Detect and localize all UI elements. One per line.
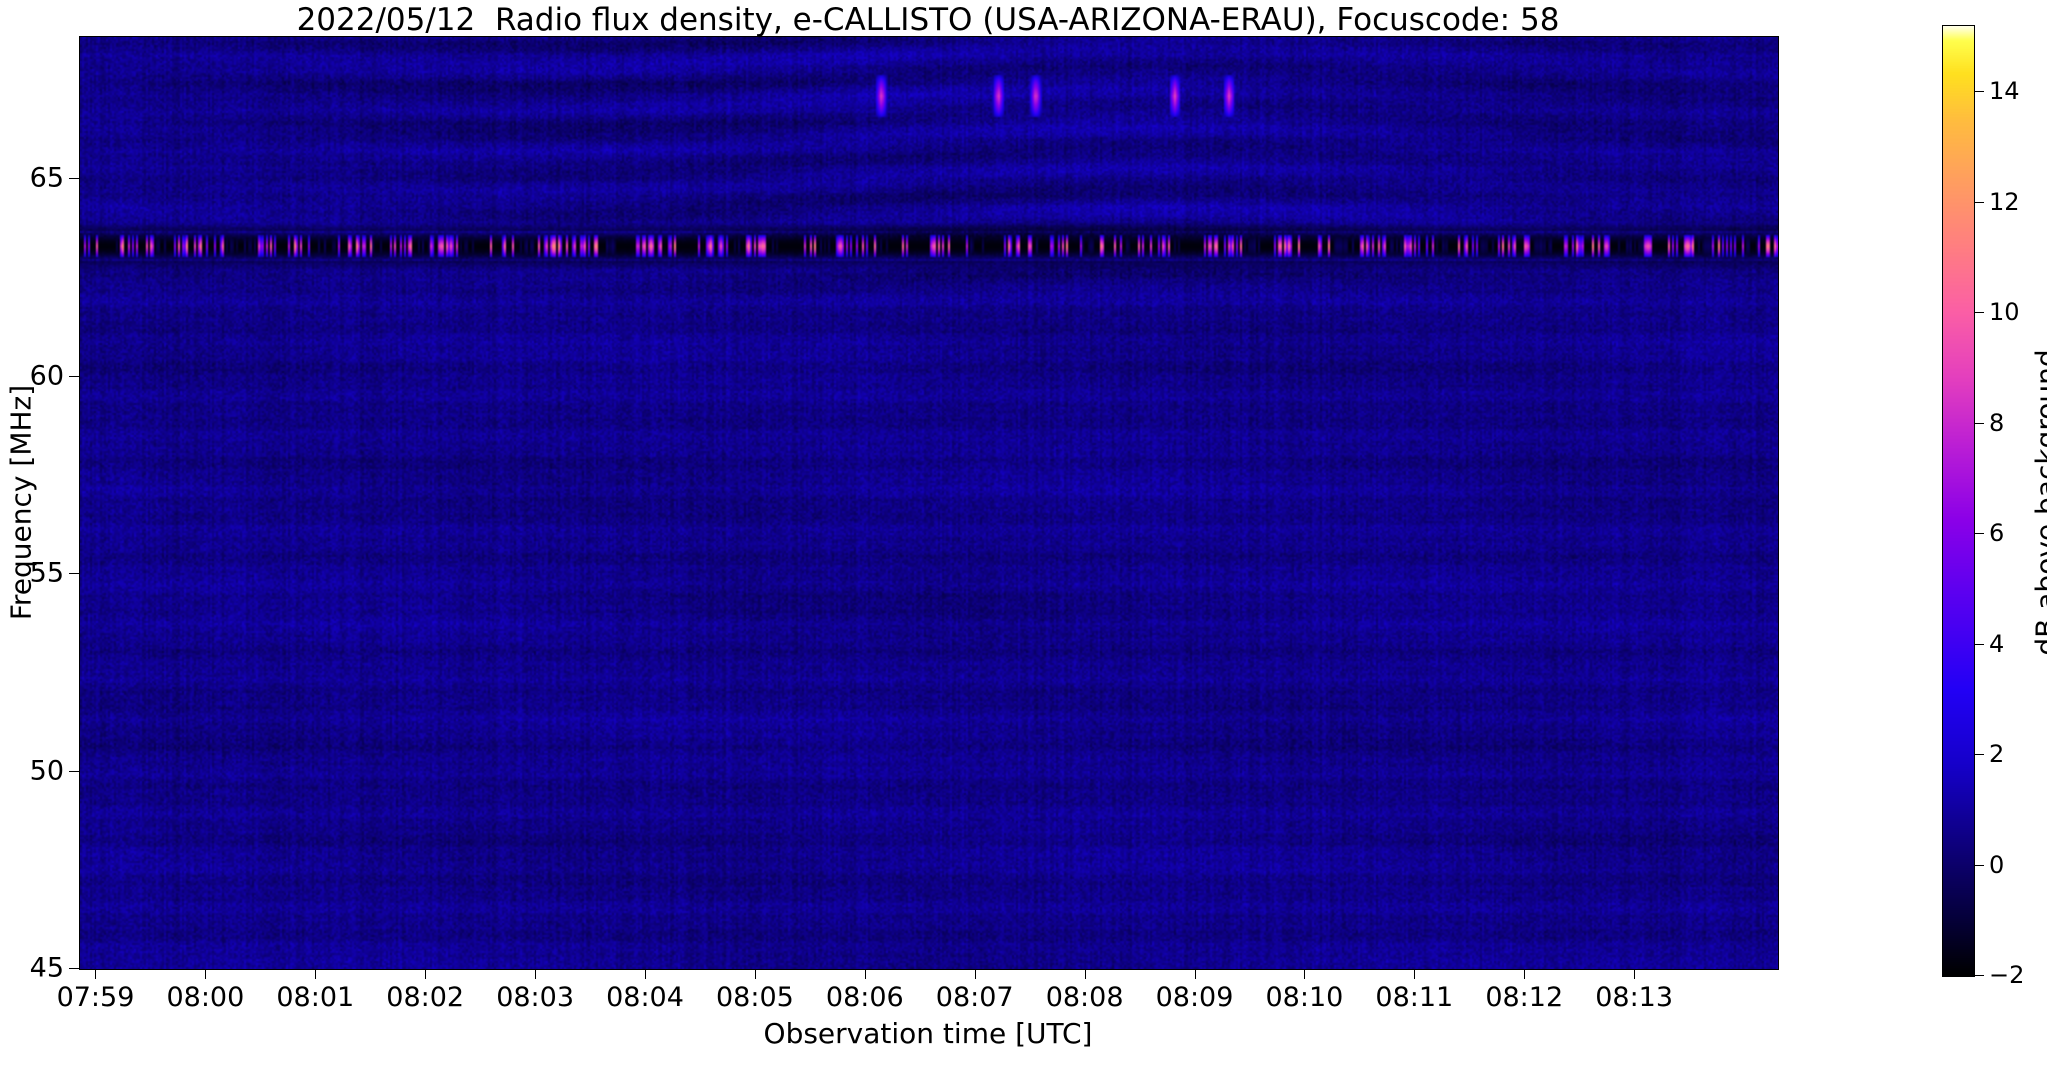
x-tick-mark [865, 969, 866, 979]
x-tick-mark [1195, 969, 1196, 979]
colorbar-tick-label: −2 [1989, 961, 2024, 989]
x-tick-label: 08:03 [496, 982, 574, 1013]
x-tick-mark [645, 969, 646, 979]
x-tick-label: 08:05 [716, 982, 794, 1013]
colorbar-tick-mark [1975, 91, 1984, 92]
colorbar-tick-label: 10 [1989, 298, 2020, 326]
y-tick-label: 45 [0, 953, 64, 984]
colorbar-tick-mark [1975, 865, 1984, 866]
y-tick-mark [69, 376, 79, 377]
x-tick-label: 07:59 [57, 982, 135, 1013]
colorbar [1942, 25, 1975, 977]
colorbar-tick-mark [1975, 754, 1984, 755]
spectrogram-figure: 2022/05/12 Radio flux density, e-CALLIST… [0, 0, 2047, 1067]
x-tick-label: 08:00 [166, 982, 244, 1013]
x-axis-label: Observation time [UTC] [79, 1017, 1777, 1050]
x-tick-label: 08:13 [1595, 982, 1673, 1013]
y-tick-label: 50 [0, 755, 64, 786]
y-tick-label: 55 [0, 558, 64, 589]
y-tick-mark [69, 573, 79, 574]
x-tick-mark [535, 969, 536, 979]
x-tick-label: 08:08 [1046, 982, 1124, 1013]
x-tick-mark [1524, 969, 1525, 979]
colorbar-tick-label: 0 [1989, 851, 2004, 879]
x-tick-mark [1414, 969, 1415, 979]
colorbar-gradient [1943, 26, 1974, 976]
spectrogram-plot-area [79, 36, 1779, 970]
x-tick-mark [1085, 969, 1086, 979]
x-tick-label: 08:02 [386, 982, 464, 1013]
colorbar-tick-label: 6 [1989, 519, 2004, 547]
x-tick-label: 08:09 [1156, 982, 1234, 1013]
x-tick-label: 08:04 [606, 982, 684, 1013]
y-tick-mark [69, 771, 79, 772]
colorbar-label: dB above background [2030, 323, 2047, 683]
x-tick-label: 08:01 [276, 982, 354, 1013]
x-tick-label: 08:07 [936, 982, 1014, 1013]
colorbar-tick-label: 4 [1989, 630, 2004, 658]
x-tick-label: 08:06 [826, 982, 904, 1013]
colorbar-tick-mark [1975, 202, 1984, 203]
x-tick-label: 08:10 [1266, 982, 1344, 1013]
colorbar-tick-label: 14 [1989, 77, 2020, 105]
colorbar-tick-label: 12 [1989, 188, 2020, 216]
colorbar-tick-label: 2 [1989, 740, 2004, 768]
spectrogram-image [80, 37, 1778, 969]
x-tick-mark [975, 969, 976, 979]
colorbar-tick-mark [1975, 533, 1984, 534]
y-tick-label: 65 [0, 163, 64, 194]
y-tick-mark [69, 178, 79, 179]
x-tick-mark [425, 969, 426, 979]
colorbar-tick-mark [1975, 644, 1984, 645]
colorbar-tick-mark [1975, 975, 1984, 976]
x-tick-mark [205, 969, 206, 979]
y-tick-mark [69, 968, 79, 969]
x-tick-mark [95, 969, 96, 979]
colorbar-tick-mark [1975, 423, 1984, 424]
colorbar-tick-label: 8 [1989, 409, 2004, 437]
x-tick-mark [1634, 969, 1635, 979]
x-tick-label: 08:12 [1485, 982, 1563, 1013]
x-tick-mark [1304, 969, 1305, 979]
colorbar-tick-mark [1975, 312, 1984, 313]
page-title: 2022/05/12 Radio flux density, e-CALLIST… [0, 2, 1856, 38]
x-tick-label: 08:11 [1375, 982, 1453, 1013]
x-tick-mark [315, 969, 316, 979]
x-tick-mark [755, 969, 756, 979]
y-tick-label: 60 [0, 360, 64, 391]
